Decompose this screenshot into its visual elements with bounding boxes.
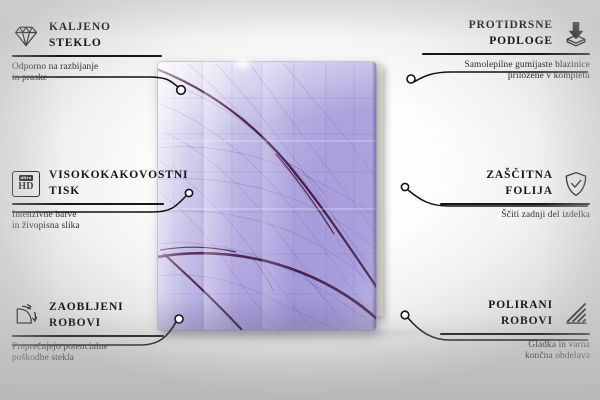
infographic-canvas: KALJENO STEKLO Odporno na razbijanje in … xyxy=(0,0,600,400)
hatched-triangle-icon xyxy=(562,300,590,328)
feature-protidrsne-podloge: PROTIDRSNE PODLOGE Samolepilne gumijaste… xyxy=(422,18,590,83)
feature-subtitle: Preprečujejo potencialne poškodbe stekla xyxy=(12,342,164,365)
feature-subtitle: Intenzivne barve in živopisna slika xyxy=(12,210,164,233)
arrow-down-pad-icon xyxy=(562,20,590,48)
feature-divider xyxy=(440,333,590,335)
feature-divider xyxy=(12,203,164,205)
feature-subtitle: Gladka in varna končna obdelava xyxy=(440,340,590,363)
ultra-hd-badge-icon: ultra HD xyxy=(12,171,40,197)
feature-divider xyxy=(12,55,162,57)
feature-subtitle: Samolepilne gumijaste blazinice priložen… xyxy=(422,60,590,83)
feature-title: PROTIDRSNE PODLOGE xyxy=(469,18,553,49)
feature-zaobljeni-robovi: ZAOBLJENI ROBOVI Preprečujejo potencialn… xyxy=(12,300,164,365)
feature-title: ZAOBLJENI ROBOVI xyxy=(49,300,124,331)
feature-subtitle: Odporno na razbijanje in praske xyxy=(12,62,162,85)
glass-panel xyxy=(158,62,376,330)
feature-visokokakovostni-tisk: ultra HD VISOKOKAKOVOSTNI TISK Intenzivn… xyxy=(12,168,164,233)
feature-title: VISOKOKAKOVOSTNI TISK xyxy=(49,168,188,199)
hd-badge-hd-label: HD xyxy=(18,182,34,192)
feature-kaljeno-steklo: KALJENO STEKLO Odporno na razbijanje in … xyxy=(12,20,162,85)
feature-subtitle: Ščiti zadnji del izdelka xyxy=(440,210,590,222)
feature-divider xyxy=(440,203,590,205)
feature-title: ZAŠČITNA FOLIJA xyxy=(486,168,553,199)
diamond-icon xyxy=(12,22,40,50)
feature-polirani-robovi: POLIRANI ROBOVI Gladka in varna končna o… xyxy=(440,298,590,363)
feature-divider xyxy=(12,335,164,337)
feature-zascitna-folija: ZAŠČITNA FOLIJA Ščiti zadnji del izdelka xyxy=(440,168,590,221)
shield-check-icon xyxy=(562,170,590,198)
feature-title: POLIRANI ROBOVI xyxy=(488,298,553,329)
product-image xyxy=(158,62,448,347)
feature-divider xyxy=(422,53,590,55)
product-floor-shadow xyxy=(162,330,462,342)
feature-title: KALJENO STEKLO xyxy=(49,20,111,51)
rounded-corner-icon xyxy=(12,302,40,330)
specular-glare xyxy=(230,56,256,72)
